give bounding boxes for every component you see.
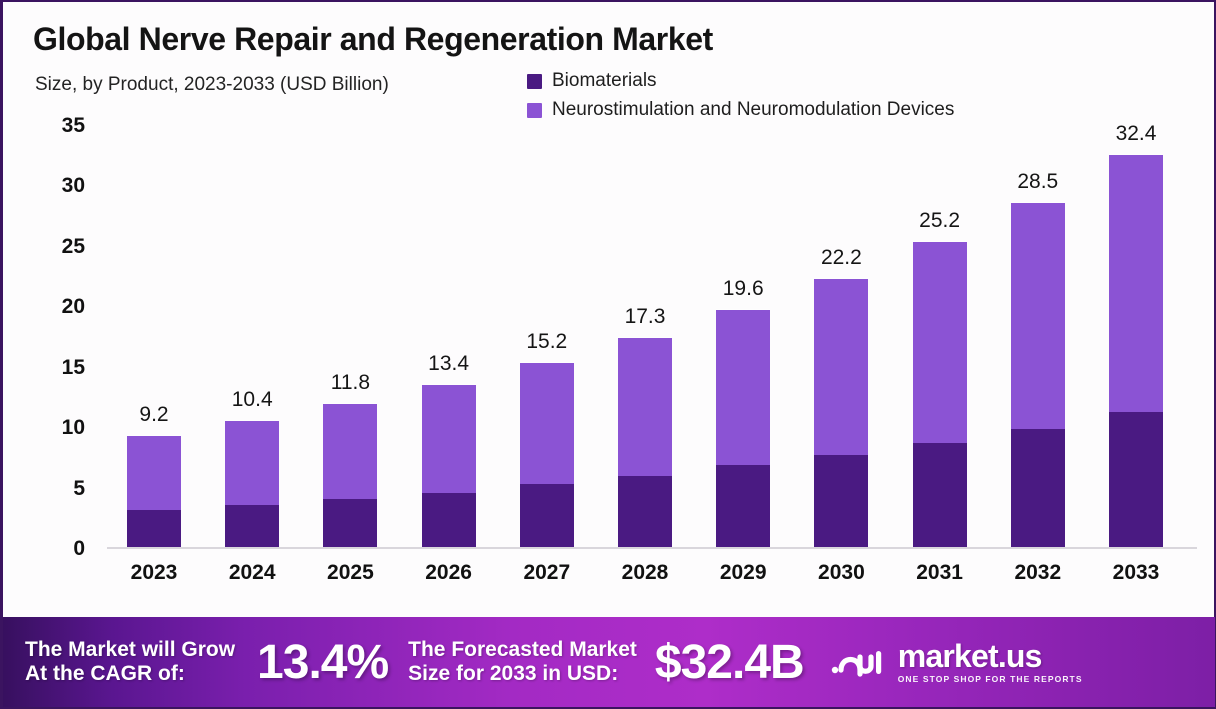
y-axis-tick: 25 <box>62 235 85 259</box>
cagr-label-line2: At the CAGR of: <box>25 662 235 686</box>
summary-banner: The Market will Grow At the CAGR of: 13.… <box>3 617 1215 707</box>
legend-swatch-devices <box>527 103 542 118</box>
bar-value-label: 15.2 <box>526 330 567 354</box>
bar-value-label: 9.2 <box>139 403 168 427</box>
bar-segment-devices[interactable] <box>520 363 574 484</box>
bar-segment-biomaterials[interactable] <box>1011 429 1065 547</box>
x-axis-tick-label: 2029 <box>720 561 767 585</box>
y-axis-tick: 10 <box>62 416 85 440</box>
y-axis-tick: 0 <box>73 537 85 561</box>
brand-logo[interactable]: market.us ONE STOP SHOP FOR THE REPORTS <box>830 640 1083 684</box>
bar-group[interactable]: 22.22030 <box>814 279 868 547</box>
bar-group[interactable]: 15.22027 <box>520 363 574 547</box>
bar-value-label: 17.3 <box>625 305 666 329</box>
page-title: Global Nerve Repair and Regeneration Mar… <box>33 21 713 58</box>
bar-group[interactable]: 11.82025 <box>323 404 377 547</box>
brand-text: market.us ONE STOP SHOP FOR THE REPORTS <box>898 640 1083 684</box>
bar-group[interactable]: 25.22031 <box>913 242 967 547</box>
chart-subtitle: Size, by Product, 2023-2033 (USD Billion… <box>35 74 389 96</box>
x-axis-tick-label: 2030 <box>818 561 865 585</box>
bar-segment-devices[interactable] <box>225 421 279 504</box>
bar-value-label: 22.2 <box>821 246 862 270</box>
cagr-label: The Market will Grow At the CAGR of: <box>25 638 235 685</box>
brand-tagline: ONE STOP SHOP FOR THE REPORTS <box>898 675 1083 684</box>
x-axis-tick-label: 2025 <box>327 561 374 585</box>
bar-segment-devices[interactable] <box>422 385 476 493</box>
bar-segment-biomaterials[interactable] <box>225 505 279 547</box>
bar-group[interactable]: 9.22023 <box>127 436 181 547</box>
bar-segment-biomaterials[interactable] <box>127 510 181 547</box>
bar-segment-biomaterials[interactable] <box>323 499 377 547</box>
bar-segment-devices[interactable] <box>913 242 967 443</box>
chart-legend: Biomaterials Neurostimulation and Neurom… <box>527 70 954 128</box>
y-axis-tick: 30 <box>62 174 85 198</box>
brand-name: market.us <box>898 640 1083 672</box>
bar-value-label: 11.8 <box>331 371 370 395</box>
y-axis: 05101520253035 <box>3 124 107 549</box>
bar-value-label: 19.6 <box>723 277 764 301</box>
bar-segment-devices[interactable] <box>1011 203 1065 429</box>
bar-segment-biomaterials[interactable] <box>1109 412 1163 547</box>
bar-segment-biomaterials[interactable] <box>520 484 574 547</box>
y-axis-tick: 15 <box>62 356 85 380</box>
forecast-label: The Forecasted Market Size for 2033 in U… <box>408 638 637 685</box>
bar-segment-biomaterials[interactable] <box>422 493 476 547</box>
legend-label-biomaterials: Biomaterials <box>552 70 657 92</box>
y-axis-tick: 5 <box>73 477 85 501</box>
bar-value-label: 25.2 <box>919 209 960 233</box>
bar-segment-devices[interactable] <box>618 338 672 476</box>
bar-group[interactable]: 28.52032 <box>1011 203 1065 547</box>
bar-segment-biomaterials[interactable] <box>716 465 770 547</box>
forecast-value: $32.4B <box>655 635 804 690</box>
bar-value-label: 10.4 <box>232 388 273 412</box>
bar-value-label: 13.4 <box>428 352 469 376</box>
x-axis-tick-label: 2026 <box>425 561 472 585</box>
legend-swatch-biomaterials <box>527 74 542 89</box>
cagr-label-line1: The Market will Grow <box>25 638 235 662</box>
bar-value-label: 28.5 <box>1017 170 1058 194</box>
forecast-label-line1: The Forecasted Market <box>408 638 637 662</box>
x-axis-line <box>107 547 1197 549</box>
chart-infographic: Global Nerve Repair and Regeneration Mar… <box>0 0 1216 709</box>
x-axis-tick-label: 2023 <box>131 561 178 585</box>
bar-group[interactable]: 17.32028 <box>618 338 672 547</box>
y-axis-tick: 20 <box>62 295 85 319</box>
x-axis-tick-label: 2024 <box>229 561 276 585</box>
market-us-logo-icon <box>830 643 888 682</box>
legend-item-devices[interactable]: Neurostimulation and Neuromodulation Dev… <box>527 99 954 121</box>
bar-segment-biomaterials[interactable] <box>913 443 967 547</box>
bar-segment-devices[interactable] <box>127 436 181 510</box>
x-axis-tick-label: 2027 <box>523 561 570 585</box>
bar-group[interactable]: 13.42026 <box>422 385 476 547</box>
bar-group[interactable]: 32.42033 <box>1109 155 1163 547</box>
cagr-value: 13.4% <box>257 635 388 690</box>
bar-segment-devices[interactable] <box>323 404 377 498</box>
forecast-label-line2: Size for 2033 in USD: <box>408 662 637 686</box>
bar-value-label: 32.4 <box>1116 122 1157 146</box>
x-axis-tick-label: 2028 <box>622 561 669 585</box>
x-axis-tick-label: 2032 <box>1014 561 1061 585</box>
legend-label-devices: Neurostimulation and Neuromodulation Dev… <box>552 99 954 121</box>
bar-group[interactable]: 19.62029 <box>716 310 770 547</box>
legend-item-biomaterials[interactable]: Biomaterials <box>527 70 954 92</box>
bar-segment-devices[interactable] <box>1109 155 1163 411</box>
bar-segment-biomaterials[interactable] <box>618 476 672 547</box>
x-axis-tick-label: 2031 <box>916 561 963 585</box>
bar-group[interactable]: 10.42024 <box>225 421 279 547</box>
plot-area: 9.2202310.4202411.8202513.4202615.220271… <box>107 124 1197 549</box>
bar-segment-devices[interactable] <box>814 279 868 455</box>
bar-segment-devices[interactable] <box>716 310 770 465</box>
y-axis-tick: 35 <box>62 114 85 138</box>
x-axis-tick-label: 2033 <box>1113 561 1160 585</box>
bar-segment-biomaterials[interactable] <box>814 455 868 547</box>
